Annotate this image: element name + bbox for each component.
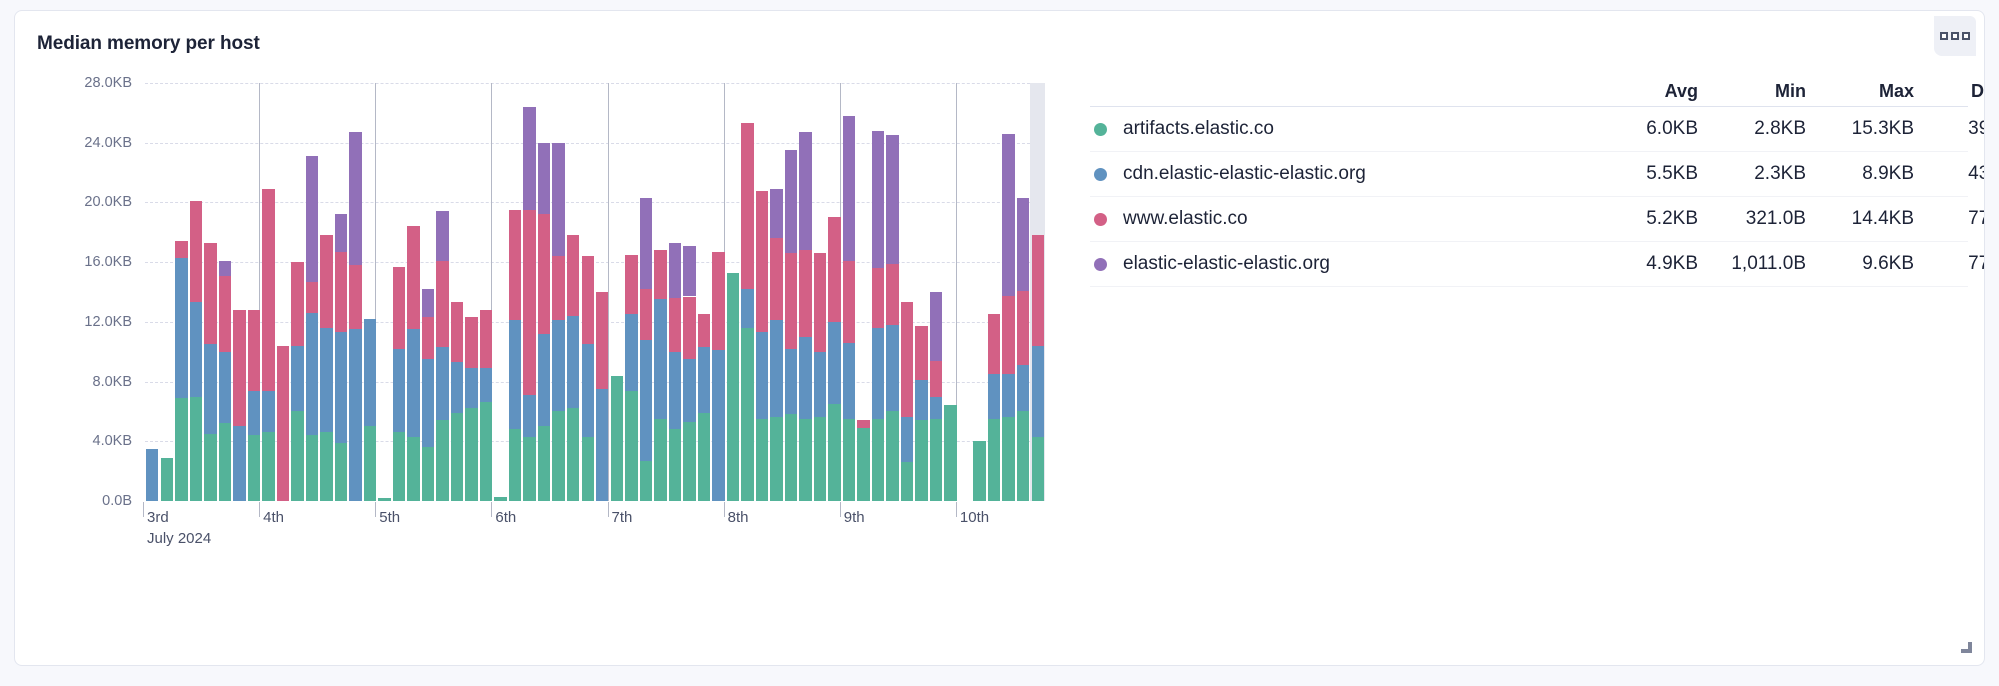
bar-segment [248,435,260,501]
bar-segment [306,282,318,313]
bar-segment [320,235,332,328]
legend-col-avg: Avg [1590,81,1698,102]
legend-value-diff: 43.0% [1914,163,1985,185]
bar-segment [901,417,913,462]
bar-segment [465,368,477,408]
bar-segment [291,411,303,501]
bar[interactable] [364,319,376,501]
bar-segment [596,389,608,501]
table-row[interactable]: www.elastic.co5.2KB321.0B14.4KB77.6% [1090,197,1968,242]
bar-segment [1002,374,1014,417]
bar-segment [625,391,637,501]
gridline [145,262,1045,263]
bar-segment [712,252,724,351]
bar-segment [698,314,710,347]
bar-segment [538,334,550,427]
bar-segment [480,402,492,501]
bar-segment [770,189,782,238]
bar[interactable] [944,405,956,501]
bar-segment [349,132,361,265]
bar[interactable] [625,255,637,501]
bar-segment [640,289,652,340]
grid-square-3 [1962,32,1970,40]
bar-segment [596,292,608,389]
table-row[interactable]: cdn.elastic-elastic-elastic.org5.5KB2.3K… [1090,152,1968,197]
bar[interactable] [1017,198,1029,501]
bar[interactable] [378,498,390,501]
bar-segment [828,217,840,322]
bar-segment [727,273,739,501]
bar-segment [770,417,782,501]
bar-segment [552,320,564,411]
bar-segment [306,156,318,281]
bar-segment [886,135,898,263]
bar-segment [988,314,1000,374]
legend-col-max: Max [1806,81,1914,102]
plot-area[interactable] [145,83,1045,501]
bar-segment [480,310,492,368]
bar-segment [262,391,274,433]
bar-segment [436,420,448,501]
bar-segment [640,198,652,289]
bar[interactable] [175,241,187,501]
grid-squares-icon[interactable] [1934,16,1976,56]
bar-segment [857,420,869,427]
bar-segment [640,340,652,461]
legend-table-body: artifacts.elastic.co6.0KB2.8KB15.3KB39.1… [1090,107,1968,287]
x-axis-tick [608,502,609,517]
x-axis-tick [491,502,492,517]
bar-segment [422,447,434,501]
legend-table-header: AvgMinMaxDiff % [1090,73,1968,107]
legend-series-label: artifacts.elastic.co [1123,118,1274,140]
bar-segment [248,310,260,391]
bar-segment [828,404,840,501]
bar-segment [306,435,318,501]
legend-value-avg: 5.5KB [1590,163,1698,185]
bar[interactable] [698,314,710,501]
bar-segment [973,441,985,501]
bar-segment [785,349,797,415]
bar-segment [262,432,274,501]
bar-segment [277,346,289,501]
legend-value-max: 14.4KB [1806,208,1914,230]
bar-segment [523,107,535,210]
bar-segment [465,317,477,368]
bar-segment [291,262,303,346]
bar-segment [1017,411,1029,501]
bar-segment [567,408,579,501]
bar-segment [944,405,956,501]
bar-segment [364,426,376,501]
bar-segment [712,350,724,501]
bar-segment [422,289,434,317]
bar-segment [654,419,666,501]
bar-segment [843,343,855,419]
bar-segment [349,265,361,329]
bar[interactable] [857,420,869,501]
bar-segment [770,320,782,417]
bar[interactable] [219,261,231,501]
bar-segment [219,352,231,424]
x-axis-tick [259,502,260,517]
bar-segment [988,419,1000,501]
bar-segment [988,374,1000,419]
bar-segment [625,255,637,315]
legend-value-min: 321.0B [1698,208,1806,230]
bar-segment [204,434,216,501]
bar-segment [465,408,477,501]
bar[interactable] [915,326,927,501]
bar-segment [683,246,695,297]
bar[interactable] [596,292,608,501]
bar-segment [175,398,187,501]
panel-header: Median memory per host [15,11,1984,59]
bar-segment [741,289,753,328]
bar-segment [901,302,913,417]
bar-segment [1032,235,1044,345]
bar-segment [509,210,521,320]
bar-segment [523,395,535,437]
bar-segment [785,253,797,349]
bar-segment [640,461,652,501]
bar-segment [741,328,753,501]
bar-segment [552,143,564,256]
bar-segment [857,428,869,501]
bar-segment [335,252,347,333]
y-axis: 0.0B4.0KB8.0KB12.0KB16.0KB20.0KB24.0KB28… [45,69,140,501]
bar-segment [669,429,681,501]
bar[interactable] [277,346,289,501]
bar-segment [567,235,579,316]
bar[interactable] [523,107,535,501]
bar[interactable] [872,131,884,501]
bar-segment [538,426,550,501]
bar[interactable] [538,143,550,501]
bar[interactable] [161,458,173,501]
legend-series-label: elastic-elastic-elastic.org [1123,253,1330,275]
bar-segment [219,423,231,501]
bar-segment [538,214,550,333]
page-title: Median memory per host [37,33,260,55]
bar-segment [582,437,594,501]
bar-segment [582,256,594,344]
legend-series-name[interactable]: www.elastic.co [1090,208,1590,230]
bar-segment [451,413,463,501]
bar[interactable] [204,243,216,501]
bar[interactable] [799,132,811,501]
bar-segment [378,498,390,501]
bar-segment [741,123,753,289]
bar-segment [669,298,681,352]
bar-segment [698,413,710,501]
bar-segment [422,359,434,447]
legend-value-max: 8.9KB [1806,163,1914,185]
bar[interactable] [785,150,797,501]
bar-segment [335,332,347,442]
gridline [145,202,1045,203]
bar[interactable] [233,310,245,501]
bar-segment [886,325,898,412]
bar-segment [756,332,768,419]
bar[interactable] [146,449,158,501]
bar[interactable] [843,116,855,501]
x-axis-tick [956,502,957,517]
dashboard-panel: Median memory per host 0.0B4.0KB8.0KB12.… [14,10,1985,666]
bar-segment [1017,198,1029,291]
bar-segment [538,143,550,215]
bar-segment [306,313,318,435]
bar-segment [930,419,942,501]
bar-segment [523,437,535,501]
grid-square-2 [1951,32,1959,40]
y-axis-tick-label: 4.0KB [93,433,133,449]
legend-series-name[interactable]: cdn.elastic-elastic-elastic.org [1090,163,1590,185]
bar-segment [451,302,463,362]
bar-segment [698,347,710,413]
bar-segment [552,256,564,320]
bar[interactable] [509,210,521,501]
bar-segment [930,292,942,361]
bar[interactable] [248,310,260,501]
bar-segment [799,250,811,337]
y-axis-tick-label: 24.0KB [84,135,132,151]
bar-segment [248,391,260,436]
bar-segment [1032,437,1044,501]
bar[interactable] [480,310,492,501]
bar-segment [683,422,695,501]
legend-value-min: 2.3KB [1698,163,1806,185]
bar[interactable] [930,292,942,501]
bar-segment [872,131,884,268]
bar-segment [901,462,913,501]
x-axis-tick-label: 8th [728,509,749,526]
bar-segment [407,437,419,501]
bar-segment [930,361,942,397]
bar-segment [407,329,419,436]
bar[interactable] [582,256,594,501]
bar-segment [625,314,637,390]
bar-segment [843,419,855,501]
bar-segment [683,297,695,360]
bar-segment [233,426,245,501]
bar-segment [494,497,506,501]
x-axis-tick-label: 4th [263,509,284,526]
legend-col-min: Min [1698,81,1806,102]
bar[interactable] [262,189,274,501]
x-axis-tick-label: 7th [612,509,633,526]
bar[interactable] [654,250,666,501]
bar-segment [335,443,347,501]
bar[interactable] [320,235,332,501]
x-axis-sublabel: July 2024 [147,530,211,547]
bar[interactable] [611,376,623,501]
bar-segment [843,116,855,261]
x-axis-tick [375,502,376,517]
x-axis-tick-label: 5th [379,509,400,526]
bar-segment [814,417,826,501]
bar[interactable] [494,497,506,501]
y-axis-tick-label: 28.0KB [84,75,132,91]
bar[interactable] [640,198,652,501]
bar[interactable] [828,217,840,501]
legend-value-avg: 5.2KB [1590,208,1698,230]
legend-value-diff: 77.7% [1914,253,1985,275]
x-axis-tick-label: 10th [960,509,989,526]
y-axis-tick-label: 0.0B [102,493,132,509]
bar[interactable] [422,289,434,501]
legend-table: AvgMinMaxDiff % artifacts.elastic.co6.0K… [1090,73,1968,287]
legend-series-name[interactable]: artifacts.elastic.co [1090,118,1590,140]
bar-segment [756,419,768,501]
bar-segment [886,264,898,325]
bar-segment [320,328,332,433]
legend-value-avg: 4.9KB [1590,253,1698,275]
bar-segment [770,238,782,320]
legend-value-diff: 39.1% [1914,118,1985,140]
bar-segment [393,432,405,501]
bar-segment [523,210,535,395]
bar[interactable] [349,132,361,501]
bar-segment [436,211,448,260]
bar-segment [509,429,521,501]
bar[interactable] [973,441,985,501]
bar[interactable] [727,273,739,501]
x-axis-tick [724,502,725,517]
legend-value-diff: 77.6% [1914,208,1985,230]
x-axis-tick [143,502,144,517]
bar-segment [161,458,173,501]
bar-segment [799,337,811,419]
bar-segment [611,376,623,501]
bar[interactable] [814,253,826,501]
x-axis-tick [840,502,841,517]
bar-segment [669,352,681,430]
bar-segment [915,420,927,501]
bar-segment [828,322,840,404]
bar-segment [582,344,594,437]
legend-value-min: 1,011.0B [1698,253,1806,275]
bar[interactable] [393,267,405,501]
bar-segment [1032,346,1044,437]
bar-segment [291,346,303,412]
bar-segment [190,397,202,502]
legend-value-max: 15.3KB [1806,118,1914,140]
bar-segment [785,150,797,253]
bar[interactable] [465,317,477,501]
y-axis-tick-label: 12.0KB [84,314,132,330]
bar[interactable] [190,201,202,501]
series-color-dot-icon [1094,258,1107,271]
table-row[interactable]: artifacts.elastic.co6.0KB2.8KB15.3KB39.1… [1090,107,1968,152]
bar-segment [872,268,884,328]
bar[interactable] [451,302,463,501]
bar[interactable] [552,143,564,501]
resize-handle-icon[interactable] [1960,641,1972,653]
bar[interactable] [886,135,898,501]
bar[interactable] [1032,235,1044,501]
bar[interactable] [683,246,695,501]
series-color-dot-icon [1094,213,1107,226]
gridline [145,143,1045,144]
bar-segment [1002,134,1014,297]
bar-segment [814,253,826,352]
bar-segment [422,317,434,359]
bar-segment [407,226,419,329]
bar[interactable] [988,314,1000,501]
table-row[interactable]: elastic-elastic-elastic.org4.9KB1,011.0B… [1090,242,1968,287]
bar-segment [843,261,855,343]
bar-segment [654,299,666,418]
bar-segment [364,319,376,426]
x-axis-tick-label: 3rd [147,509,169,526]
bar-segment [204,243,216,345]
legend-series-name[interactable]: elastic-elastic-elastic.org [1090,253,1590,275]
legend-col-diff: Diff % [1914,81,1985,102]
bar[interactable] [1002,134,1014,501]
bar-segment [552,411,564,501]
bar[interactable] [712,252,724,501]
bar-segment [872,419,884,501]
bar[interactable] [756,191,768,502]
bar[interactable] [567,235,579,501]
bar-segment [1002,417,1014,501]
bar-segment [1017,291,1029,366]
chart: 0.0B4.0KB8.0KB12.0KB16.0KB20.0KB24.0KB28… [45,69,1085,569]
bar-segment [567,316,579,409]
bar[interactable] [741,123,753,501]
bar-segment [915,326,927,380]
bar-segment [1017,365,1029,411]
series-color-dot-icon [1094,123,1107,136]
bar-segment [799,419,811,501]
bar-segment [756,191,768,333]
y-axis-tick-label: 20.0KB [84,194,132,210]
gridline [145,83,1045,84]
bar-segment [219,276,231,352]
bar[interactable] [335,214,347,501]
bar-segment [886,411,898,501]
bar[interactable] [436,211,448,501]
bar-segment [799,132,811,250]
bar[interactable] [901,302,913,501]
x-axis: July 2024 3rd4th5th6th7th8th9th10th [145,502,1045,562]
bar-segment [175,258,187,398]
bar-segment [393,267,405,349]
bar-segment [872,328,884,419]
bar-segment [669,243,681,298]
bar-segment [451,362,463,413]
bar-segment [190,302,202,396]
bar-segment [393,349,405,433]
bar[interactable] [306,156,318,501]
bar-segment [320,432,332,501]
bar[interactable] [770,189,782,501]
bar[interactable] [291,262,303,501]
bar-segment [233,310,245,426]
bar-segment [915,380,927,420]
bar-segment [654,250,666,299]
bar-segment [814,352,826,418]
bar[interactable] [669,243,681,501]
bar-segment [175,241,187,257]
bar-segment [349,329,361,501]
bar-segment [930,397,942,419]
bar[interactable] [407,226,419,501]
bar-segment [480,368,492,402]
bar-segment [190,201,202,303]
bar-segment [436,347,448,420]
